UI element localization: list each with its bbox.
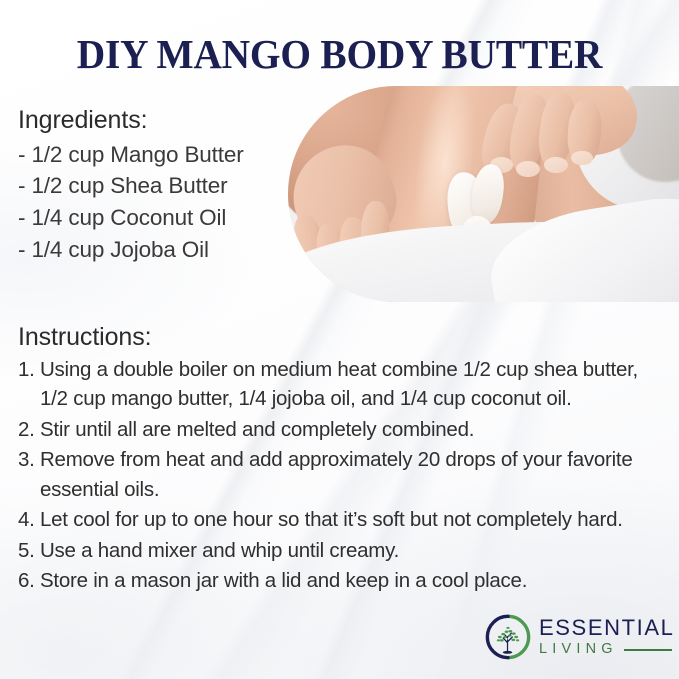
instruction-step: 1. Using a double boiler on medium heat … bbox=[18, 355, 664, 414]
step-number: 1. bbox=[18, 355, 40, 385]
photo-fingernail bbox=[571, 151, 593, 166]
instructions-list: 1. Using a double boiler on medium heat … bbox=[18, 355, 664, 596]
instruction-step: 3. Remove from heat and add approximatel… bbox=[18, 445, 664, 504]
ingredients-list: - 1/2 cup Mango Butter - 1/2 cup Shea Bu… bbox=[18, 139, 244, 267]
logo-name-secondary: LIVING bbox=[539, 642, 618, 657]
circle-tree-icon bbox=[484, 613, 532, 661]
step-number: 5. bbox=[18, 536, 40, 566]
photo-fingernail bbox=[544, 157, 567, 173]
step-number: 3. bbox=[18, 445, 40, 475]
logo-rule bbox=[624, 649, 672, 651]
ingredient-item: - 1/4 cup Jojoba Oil bbox=[18, 234, 244, 266]
logo-wordmark: ESSENTIAL LIVING bbox=[539, 617, 674, 657]
brand-logo: ESSENTIAL LIVING bbox=[484, 613, 674, 661]
logo-name-primary: ESSENTIAL bbox=[539, 617, 674, 639]
instruction-step: 2. Stir until all are melted and complet… bbox=[18, 415, 664, 445]
step-number: 6. bbox=[18, 566, 40, 596]
step-text: Let cool for up to one hour so that it’s… bbox=[40, 505, 664, 535]
instruction-step: 6. Store in a mason jar with a lid and k… bbox=[18, 566, 664, 596]
step-text: Using a double boiler on medium heat com… bbox=[40, 355, 664, 414]
instructions-section: Instructions: 1. Using a double boiler o… bbox=[18, 322, 664, 597]
ingredient-item: - 1/2 cup Shea Butter bbox=[18, 170, 244, 202]
ingredients-heading: Ingredients: bbox=[18, 105, 244, 136]
photo-fingernail bbox=[516, 161, 539, 177]
step-text: Store in a mason jar with a lid and keep… bbox=[40, 566, 664, 596]
instruction-step: 4. Let cool for up to one hour so that i… bbox=[18, 505, 664, 535]
step-text: Remove from heat and add approximately 2… bbox=[40, 445, 664, 504]
ingredient-item: - 1/2 cup Mango Butter bbox=[18, 139, 244, 171]
step-text: Use a hand mixer and whip until creamy. bbox=[40, 536, 664, 566]
step-text: Stir until all are melted and completely… bbox=[40, 415, 664, 445]
instructions-heading: Instructions: bbox=[18, 322, 664, 353]
logo-name-secondary-row: LIVING bbox=[539, 642, 674, 657]
step-number: 4. bbox=[18, 505, 40, 535]
instruction-step: 5. Use a hand mixer and whip until cream… bbox=[18, 536, 664, 566]
ingredient-item: - 1/4 cup Coconut Oil bbox=[18, 202, 244, 234]
step-number: 2. bbox=[18, 415, 40, 445]
ingredients-section: Ingredients: - 1/2 cup Mango Butter - 1/… bbox=[18, 105, 244, 266]
hero-photo bbox=[288, 86, 679, 302]
page-title: DIY MANGO BODY BUTTER bbox=[14, 30, 666, 78]
